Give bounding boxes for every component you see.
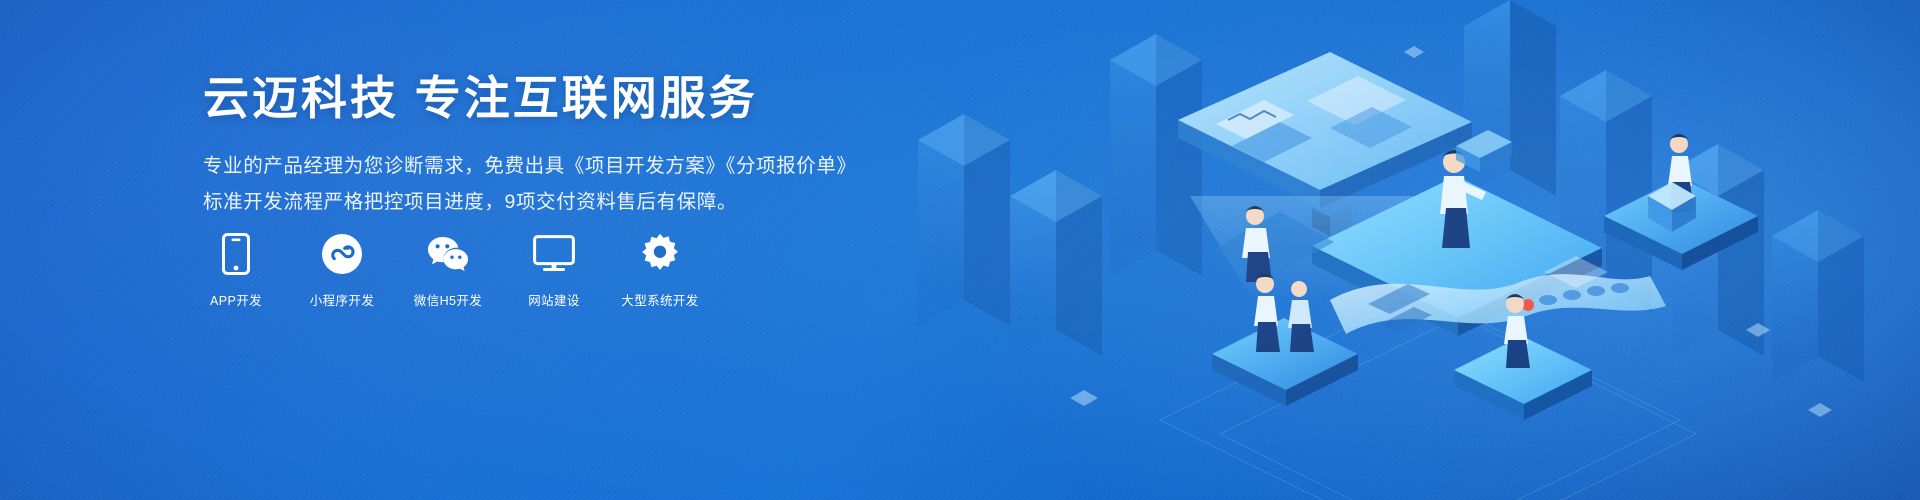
hero-banner: 云迈科技 专注互联网服务 专业的产品经理为您诊断需求，免费出具《项目开发方案》《… (0, 0, 1920, 500)
banner-copy: 云迈科技 专注互联网服务 专业的产品经理为您诊断需求，免费出具《项目开发方案》《… (203, 72, 923, 219)
mini-program-icon (320, 232, 364, 276)
service-label: 大型系统开发 (621, 290, 698, 309)
gear-icon (638, 232, 682, 276)
mobile-phone-icon (214, 232, 258, 276)
subtitle-line-1: 专业的产品经理为您诊断需求，免费出具《项目开发方案》《分项报价单》 (203, 150, 923, 184)
service-label: 网站建设 (528, 290, 580, 309)
service-item-large-system[interactable]: 大型系统开发 (624, 232, 696, 309)
service-item-wechat-h5[interactable]: 微信H5开发 (412, 232, 484, 309)
service-item-website[interactable]: 网站建设 (518, 232, 590, 309)
subtitle-line-2: 标准开发流程严格把控项目进度，9项交付资料售后有保障。 (203, 186, 923, 220)
page-title: 云迈科技 专注互联网服务 (203, 72, 923, 125)
service-label: 微信H5开发 (414, 290, 482, 309)
banner-subtitle: 专业的产品经理为您诊断需求，免费出具《项目开发方案》《分项报价单》 标准开发流程… (203, 150, 923, 219)
illustration-isometric-data-platform (860, 0, 1920, 500)
service-item-mini-program[interactable]: 小程序开发 (306, 232, 378, 309)
service-list: APP开发 小程序开发 (200, 232, 696, 309)
service-item-app[interactable]: APP开发 (200, 232, 272, 309)
monitor-icon (532, 232, 576, 276)
service-label: 小程序开发 (310, 290, 375, 309)
service-label: APP开发 (210, 290, 262, 309)
wechat-icon (426, 232, 470, 276)
